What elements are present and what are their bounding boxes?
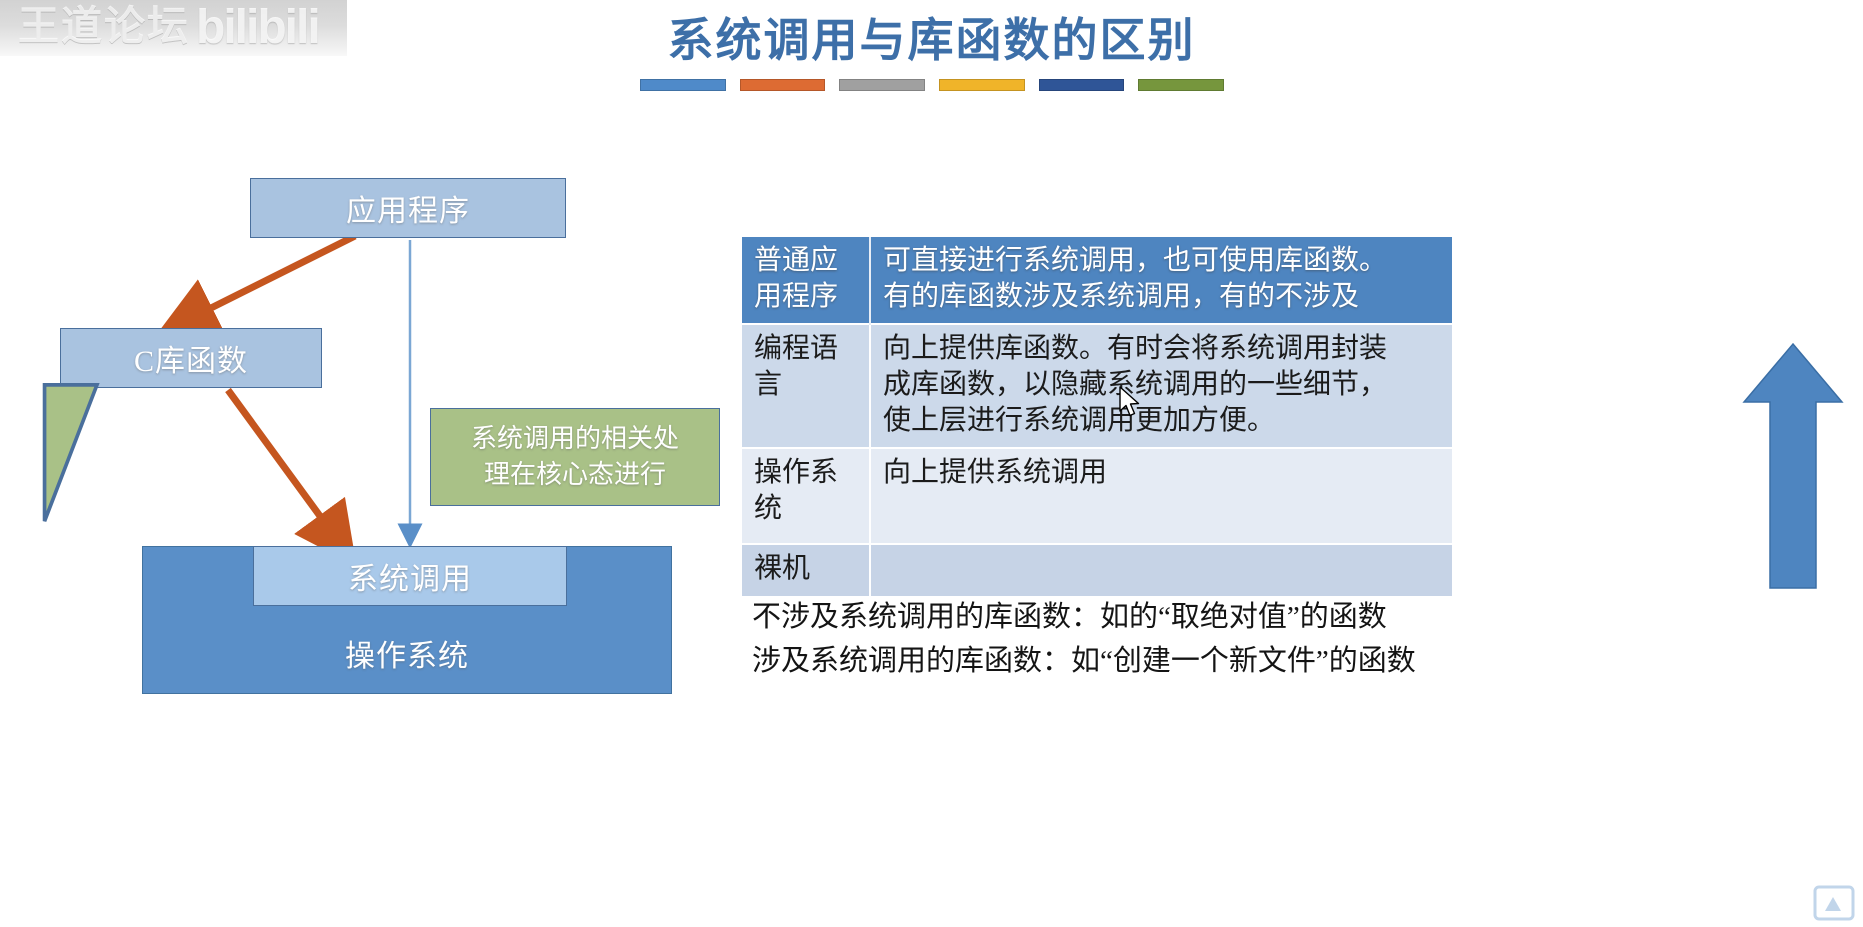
upward-arrow-icon	[1738, 340, 1848, 590]
title-bar-4	[939, 79, 1025, 91]
table-row: 裸机	[742, 544, 1452, 596]
table-cell-layer: 裸机	[742, 544, 870, 596]
desc-line-1: 向上提供系统调用	[883, 457, 1107, 488]
bottom-notes: 不涉及系统调用的库函数：如的“取绝对值”的函数 涉及系统调用的库函数：如“创建一…	[752, 595, 1542, 683]
callout-tail	[0, 0, 760, 927]
table-row: 编程语 言 向上提供库函数。有时会将系统调用封装 成库函数，以隐藏系统调用的一些…	[742, 324, 1452, 448]
note-line-1: 不涉及系统调用的库函数：如的“取绝对值”的函数	[752, 595, 1542, 639]
layer-line-2: 统	[754, 493, 782, 524]
desc-line-1: 可直接进行系统调用，也可使用库函数。	[883, 245, 1387, 276]
title-bar-5	[1039, 79, 1125, 91]
layer-line-1: 编程语	[754, 333, 838, 364]
note-line-2: 涉及系统调用的库函数：如“创建一个新文件”的函数	[752, 639, 1542, 683]
title-bar-3	[839, 79, 925, 91]
table-row: 普通应 用程序 可直接进行系统调用，也可使用库函数。 有的库函数涉及系统调用，有…	[742, 237, 1452, 324]
title-bar-6	[1138, 79, 1224, 91]
table-cell-description: 向上提供库函数。有时会将系统调用封装 成库函数，以隐藏系统调用的一些细节， 使上…	[870, 324, 1452, 448]
table-cell-description: 向上提供系统调用	[870, 448, 1452, 544]
table-cell-layer: 普通应 用程序	[742, 237, 870, 324]
desc-line-3: 使上层进行系统调用更加方便。	[883, 405, 1275, 436]
layer-line-2: 言	[754, 369, 782, 400]
desc-line-2: 有的库函数涉及系统调用，有的不涉及	[883, 281, 1359, 312]
table-cell-layer: 操作系 统	[742, 448, 870, 544]
layer-line-1: 裸机	[754, 553, 810, 584]
desc-line-1: 向上提供库函数。有时会将系统调用封装	[883, 333, 1387, 364]
layer-line-2: 用程序	[754, 281, 838, 312]
table-cell-layer: 编程语 言	[742, 324, 870, 448]
layer-diagram: 应用程序 C库函数 操作系统 系统调用 系统调用的相关处 理在核心态进行	[0, 0, 760, 927]
player-corner-icon[interactable]	[1811, 881, 1857, 925]
table-cell-description	[870, 544, 1452, 596]
comparison-table: 普通应 用程序 可直接进行系统调用，也可使用库函数。 有的库函数涉及系统调用，有…	[742, 237, 1452, 596]
mouse-cursor-icon	[1118, 386, 1144, 420]
layer-line-1: 普通应	[754, 245, 838, 276]
table-cell-description: 可直接进行系统调用，也可使用库函数。 有的库函数涉及系统调用，有的不涉及	[870, 237, 1452, 324]
table-row: 操作系 统 向上提供系统调用	[742, 448, 1452, 544]
layer-line-1: 操作系	[754, 457, 838, 488]
